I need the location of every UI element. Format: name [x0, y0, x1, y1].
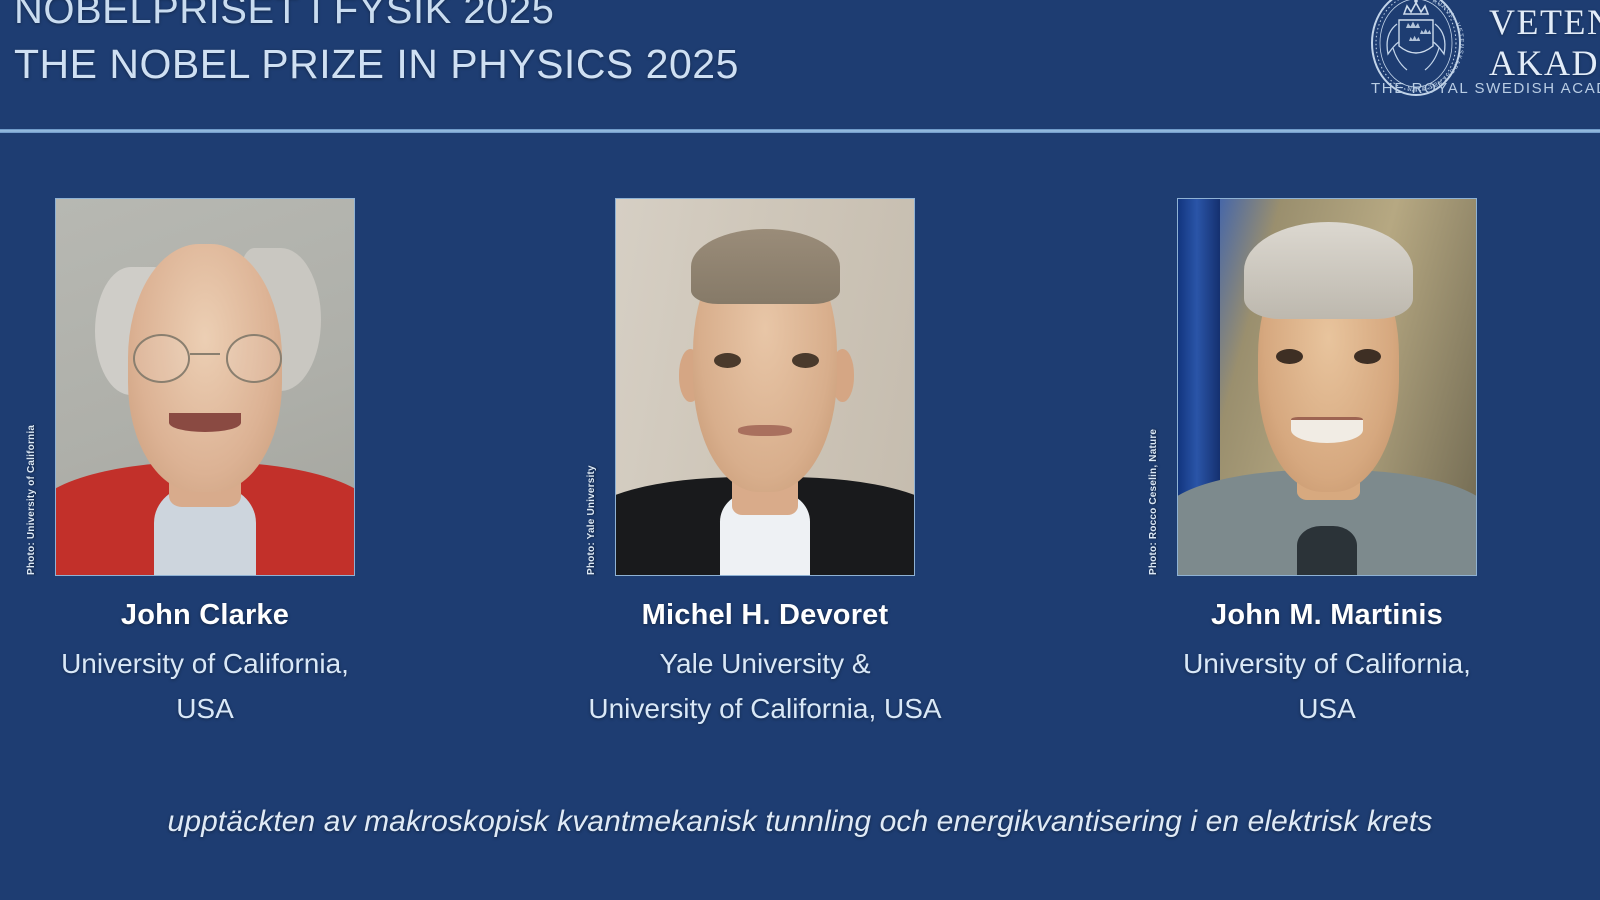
laureate-name: John Clarke	[121, 599, 289, 632]
title-english: THE NOBEL PRIZE IN PHYSICS 2025	[14, 40, 914, 89]
nobel-prize-announcement-slide: NOBELPRISET I FYSIK 2025 THE NOBEL PRIZE…	[0, 0, 1600, 900]
motivation-caption: upptäckten av makroskopisk kvantmekanisk…	[0, 805, 1600, 839]
laureate-portrait-john-clarke	[56, 199, 354, 575]
photo-credit: Photo: Rocco Ceselin, Nature	[1148, 375, 1159, 575]
laureate-affiliation: University of California, USA	[1183, 641, 1471, 731]
slide-header: NOBELPRISET I FYSIK 2025 THE NOBEL PRIZE…	[0, 0, 1600, 131]
royal-swedish-academy-logo: KUNGL. VETENSKAPSAKADEMIEN VETENS AKADE …	[1357, 0, 1600, 102]
laureate-card-john-clarke: Photo: University of California John Cla…	[0, 131, 430, 731]
academy-wordmark-line-2: AKADE	[1489, 43, 1600, 84]
bottom-band	[0, 862, 1600, 900]
laureate-photo-frame: Photo: Rocco Ceselin, Nature	[1177, 198, 1477, 576]
photo-credit: Photo: University of California	[26, 375, 37, 575]
laureates-row: Photo: University of California John Cla…	[0, 131, 1600, 751]
photo-credit: Photo: Yale University	[586, 375, 597, 575]
title-block: NOBELPRISET I FYSIK 2025 THE NOBEL PRIZE…	[14, 0, 914, 89]
title-swedish: NOBELPRISET I FYSIK 2025	[14, 0, 914, 30]
laureate-affiliation: University of California, USA	[61, 641, 349, 731]
academy-wordmark: VETENS AKADE	[1489, 2, 1600, 84]
academy-subtitle: THE ROYAL SWEDISH ACADEMY	[1371, 80, 1600, 97]
laureate-portrait-john-m-martinis	[1178, 199, 1476, 575]
laureate-photo-frame: Photo: University of California	[55, 198, 355, 576]
laureate-card-michel-h-devoret: Photo: Yale University Michel H. Devoret…	[540, 131, 990, 731]
laureate-affiliation: Yale University & University of Californ…	[588, 641, 941, 731]
laureate-photo-frame: Photo: Yale University	[615, 198, 915, 576]
laureate-card-john-m-martinis: Photo: Rocco Ceselin, Nature John M. Mar…	[1102, 131, 1552, 731]
academy-wordmark-line-1: VETENS	[1489, 2, 1600, 43]
laureate-name: Michel H. Devoret	[642, 599, 889, 632]
laureate-portrait-michel-h-devoret	[616, 199, 914, 575]
laureate-name: John M. Martinis	[1211, 599, 1443, 632]
